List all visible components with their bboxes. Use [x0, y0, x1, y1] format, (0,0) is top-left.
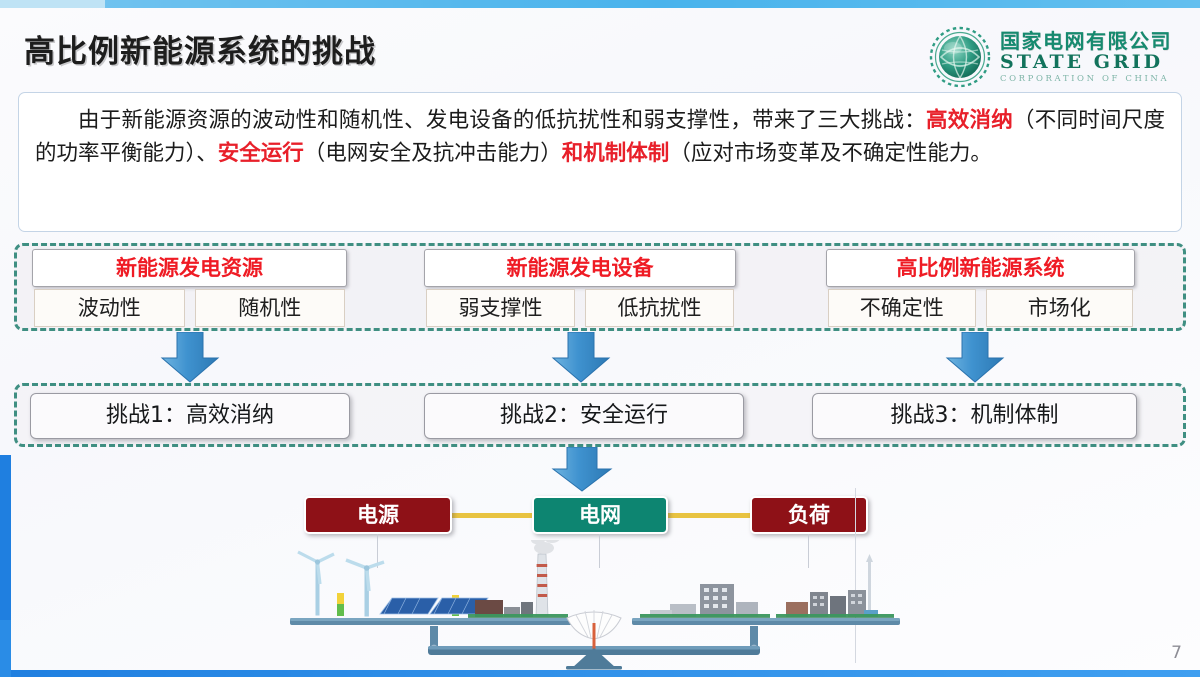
- cause-column-2-tags: 不确定性 市场化: [826, 289, 1135, 327]
- slide-header: 高比例新能源系统的挑战: [0, 18, 1200, 80]
- cause-column-0-tags: 波动性 随机性: [32, 289, 347, 327]
- node-power-grid: 电网: [532, 496, 668, 534]
- paragraph-segment-4: （应对市场变革及不确定性能力。: [669, 141, 992, 166]
- challenge-box-2: 挑战2：安全运行: [424, 393, 744, 439]
- challenge-box-1: 挑战1：高效消纳: [30, 393, 350, 439]
- cause-tag: 随机性: [195, 289, 346, 327]
- logo-english-subtitle: CORPORATION OF CHINA: [1000, 75, 1172, 84]
- cause-tag: 低抗扰性: [585, 289, 734, 327]
- cause-tag: 波动性: [34, 289, 185, 327]
- logo-wordmark: 国家电网有限公司 STATE GRID CORPORATION OF CHINA: [1000, 31, 1172, 84]
- cause-tag: 弱支撑性: [426, 289, 575, 327]
- link-grid-to-load: [662, 513, 756, 518]
- top-accent-strip-left: [0, 0, 105, 8]
- right-pan-group: [640, 554, 894, 620]
- cause-column-1-tags: 弱支撑性 低抗扰性: [424, 289, 736, 327]
- node-power-load: 负荷: [750, 496, 868, 534]
- page-number: 7: [1171, 643, 1182, 663]
- left-accent-strip-lower: [0, 620, 11, 677]
- logo-english-name: STATE GRID: [1000, 53, 1172, 72]
- cause-column-0-title: 新能源发电资源: [32, 249, 347, 287]
- balance-scale-illustration: [280, 540, 900, 670]
- highlight-challenge-1: 高效消纳: [926, 108, 1013, 133]
- page-title: 高比例新能源系统的挑战: [24, 26, 376, 71]
- paragraph-segment-1: 由于新能源资源的波动性和随机性、发电设备的低抗扰性和弱支撑性，带来了三大挑战：: [78, 108, 926, 133]
- cause-column-2-title: 高比例新能源系统: [826, 249, 1135, 287]
- state-grid-globe-icon: [929, 26, 991, 88]
- slide-root: 高比例新能源系统的挑战: [0, 0, 1200, 677]
- arrow-down-icon: [551, 447, 613, 493]
- cause-column-1-title: 新能源发电设备: [424, 249, 736, 287]
- arrow-down-icon: [551, 332, 611, 384]
- arrow-down-icon: [945, 332, 1005, 384]
- highlight-challenge-2: 安全运行: [218, 141, 304, 166]
- cause-tag: 市场化: [986, 289, 1134, 327]
- state-grid-logo: 国家电网有限公司 STATE GRID CORPORATION OF CHINA: [929, 26, 1172, 88]
- summary-text-card: 由于新能源资源的波动性和随机性、发电设备的低抗扰性和弱支撑性，带来了三大挑战：高…: [18, 92, 1182, 232]
- paragraph-segment-3: （电网安全及抗冲击能力）: [304, 141, 562, 166]
- cause-column-system: 高比例新能源系统 不确定性 市场化: [826, 249, 1135, 327]
- summary-paragraph: 由于新能源资源的波动性和随机性、发电设备的低抗扰性和弱支撑性，带来了三大挑战：高…: [19, 93, 1181, 170]
- arrow-down-icon: [160, 332, 220, 384]
- link-source-to-grid: [446, 513, 540, 518]
- left-pan-group: [298, 540, 568, 620]
- cause-tag: 不确定性: [828, 289, 976, 327]
- highlight-challenge-3: 和机制体制: [562, 141, 670, 166]
- logo-chinese-name: 国家电网有限公司: [1000, 31, 1172, 51]
- challenge-box-3: 挑战3：机制体制: [812, 393, 1137, 439]
- cause-column-resources: 新能源发电资源 波动性 随机性: [32, 249, 347, 327]
- node-power-source: 电源: [304, 496, 452, 534]
- power-balance-diagram: 电源 电网 负荷: [250, 488, 950, 673]
- top-accent-strip: [0, 0, 1200, 8]
- cause-column-equipment: 新能源发电设备 弱支撑性 低抗扰性: [424, 249, 736, 327]
